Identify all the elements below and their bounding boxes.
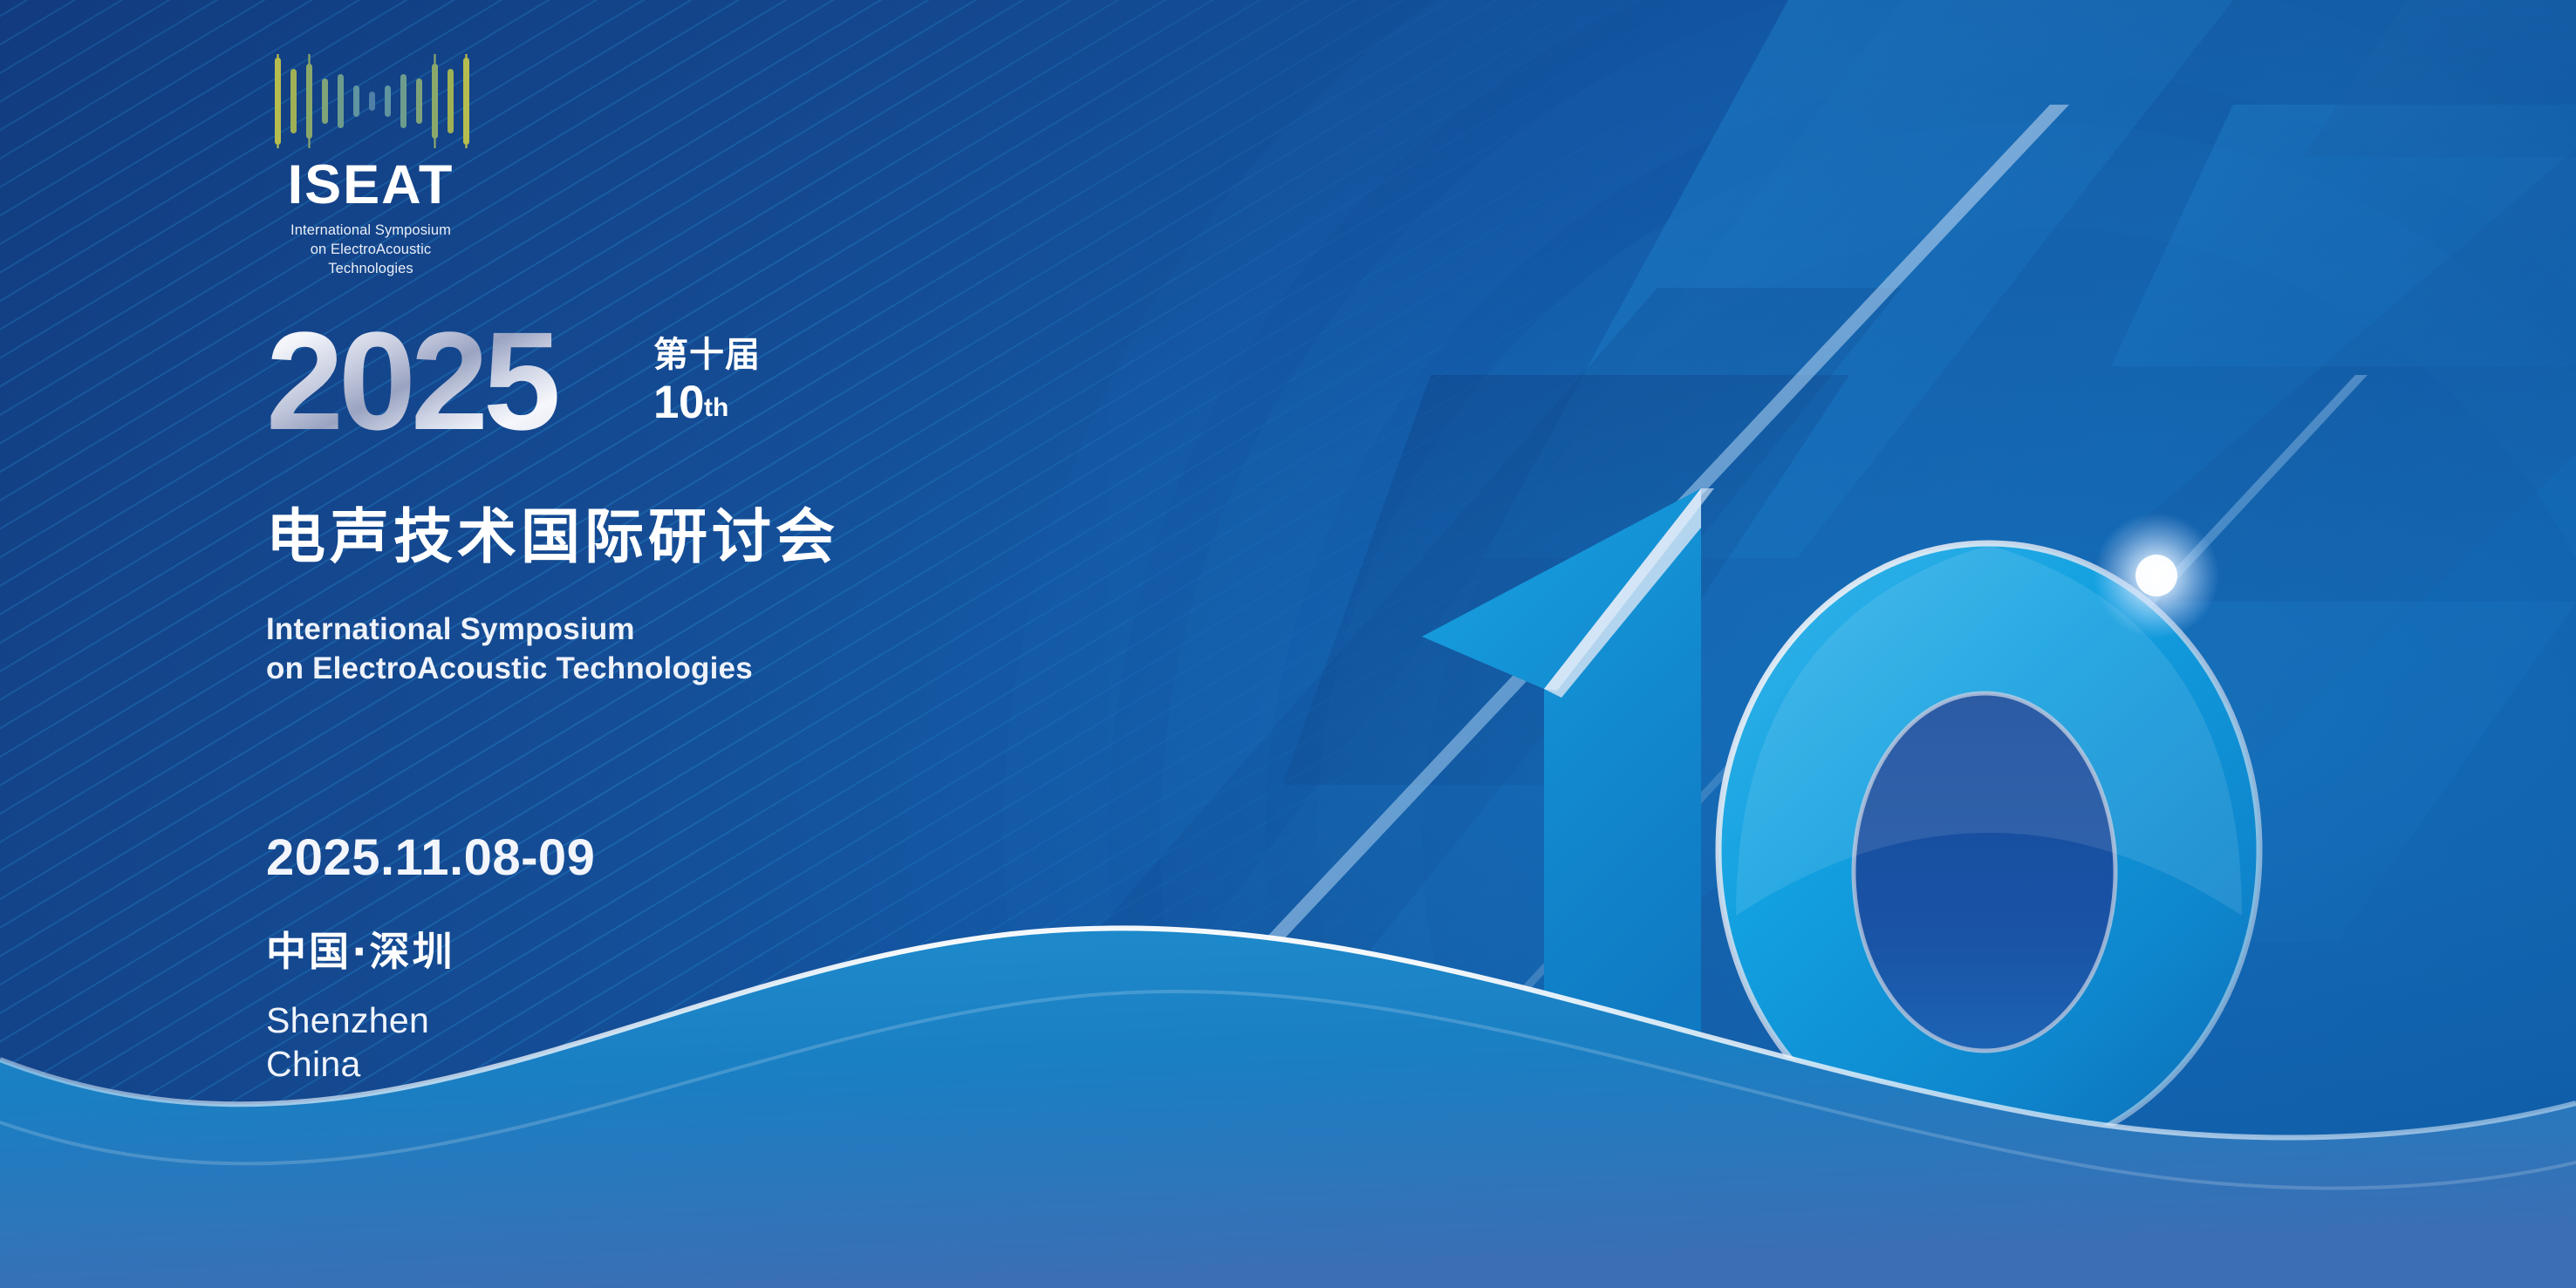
event-title-cn: 电声技术国际研讨会: [266, 508, 839, 568]
edition-label: 第十届 10th: [653, 337, 761, 426]
edition-label-cn: 第十届: [653, 337, 761, 374]
soundwave-bar-10: [416, 78, 422, 124]
logo-tagline-line-3: Technologies: [262, 259, 480, 278]
edition-label-en: 10th: [653, 378, 761, 426]
event-date: 2025.11.08-09: [266, 833, 595, 883]
event-location-country: China: [266, 1042, 429, 1086]
soundwave-bars-icon: [270, 52, 472, 150]
logo-tagline: International Symposium on ElectroAcoust…: [262, 221, 480, 278]
logo-tagline-line-2: on ElectroAcoustic: [262, 240, 480, 259]
event-location-city: Shenzhen: [266, 998, 429, 1042]
soundwave-bar-stem-11: [434, 54, 435, 148]
soundwave-bar-12: [448, 69, 454, 133]
edition-number: 10: [653, 377, 704, 428]
logo-wordmark: ISEAT: [262, 158, 480, 213]
soundwave-bar-8: [385, 85, 391, 117]
year-metallic-numerals: 2025: [266, 323, 632, 449]
event-title-en-line-2: on ElectroAcoustic Technologies: [266, 650, 753, 689]
soundwave-bar-stem-13: [465, 54, 467, 148]
poster-canvas: ISEAT International Symposium on Electro…: [0, 0, 2576, 1288]
event-location-en: Shenzhen China: [266, 998, 429, 1086]
edition-ordinal: th: [704, 393, 728, 422]
year-edition-row: 2025 第十届 10th: [266, 323, 761, 449]
event-location-cn: 中国·深圳: [266, 931, 454, 971]
logo-tagline-line-1: International Symposium: [262, 221, 480, 240]
soundwave-bar-5: [338, 74, 344, 128]
soundwave-bar-stem-1: [277, 54, 278, 148]
soundwave-bar-9: [400, 74, 407, 128]
soundwave-bar-stem-3: [308, 54, 310, 148]
iseat-logo: ISEAT International Symposium on Electro…: [262, 52, 480, 278]
soundwave-bar-6: [353, 85, 359, 117]
svg-text:2025: 2025: [266, 323, 557, 449]
event-title-en: International Symposium on ElectroAcoust…: [266, 610, 753, 689]
soundwave-bar-2: [290, 69, 297, 133]
soundwave-bar-7: [369, 92, 375, 111]
event-title-en-line-1: International Symposium: [266, 610, 753, 650]
soundwave-bar-4: [322, 78, 328, 124]
